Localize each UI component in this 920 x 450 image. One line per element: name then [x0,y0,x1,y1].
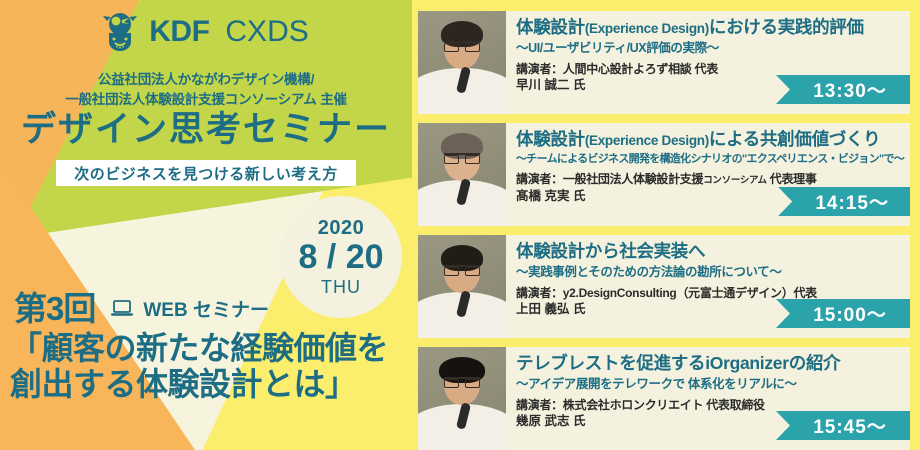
session-time-badge: 15:45〜 [776,411,910,440]
session-title-en: (Experience Design) [585,21,709,36]
main-title-line-1: 「顧客の新たな経験価値を [10,330,412,366]
session-time-badge: 14:15〜 [778,187,910,216]
session-time-badge: 13:30〜 [776,75,910,104]
seminar-poster: KDF CXDS 公益社団法人かながわデザイン機構/ 一般社団法人体験設計支援コ… [0,0,920,450]
session-title-pre: 体験設計から社会実装へ [516,241,705,261]
session-card-body: 体験設計(Experience Design)における実践的評価 〜UI/ユーザ… [506,11,910,114]
session-card-body: 体験設計から社会実装へ 〜実践事例とそのための方法論の勘所について〜 講演者：y… [506,235,910,338]
speaker-role-pre: 講演者：一般社団法人体験設計支援 [516,172,703,186]
event-format-row: 第3回 WEB セミナー [14,292,269,325]
speaker-photo [418,123,506,226]
speaker-photo [418,235,506,338]
format-label: WEB セミナー [143,295,269,322]
organizer-line-2: 一般社団法人体験設計支援コンソーシアム 主催 [0,90,412,110]
session-title: テレブレストを促進するiOrganizerの紹介 [516,354,902,373]
session-card[interactable]: 体験設計(Experience Design)による共創価値づくり 〜チームによ… [418,123,910,226]
date-day: 8 / 20 [298,238,383,277]
session-subtitle: 〜アイデア展開をテレワークで 体系化をリアルに〜 [516,377,902,392]
date-year: 2020 [318,218,365,238]
session-subtitle: 〜チームによるビジネス開発を構造化シナリオの"エクスペリエンス・ビジョン"で〜 [516,153,904,166]
session-list: 体験設計(Experience Design)における実践的評価 〜UI/ユーザ… [418,0,920,450]
session-card[interactable]: 体験設計(Experience Design)における実践的評価 〜UI/ユーザ… [418,11,910,114]
session-card-body: 体験設計(Experience Design)による共創価値づくり 〜チームによ… [506,123,910,226]
session-title-pre: 体験設計 [516,129,585,149]
speaker-photo [418,11,506,114]
laptop-icon [111,300,133,317]
session-title: 体験設計(Experience Design)における実践的評価 [516,18,902,37]
seminar-title: デザイン思考セミナー [0,112,412,147]
organizer-block: 公益社団法人かながわデザイン機構/ 一般社団法人体験設計支援コンソーシアム 主催 [0,70,412,109]
kdf-mascot-icon [103,12,137,52]
session-card[interactable]: テレブレストを促進するiOrganizerの紹介 〜アイデア展開をテレワークで … [418,347,910,450]
kdf-wordmark: KDF [149,17,209,47]
session-speaker-role: 講演者：一般社団法人体験設計支援コンソーシアム 代表理事 [516,171,904,188]
speaker-photo [418,347,506,450]
session-title-pre: 体験設計 [516,17,585,37]
page-title: 「顧客の新たな経験価値を 創出する体験設計とは」 [10,330,412,403]
session-title: 体験設計から社会実装へ [516,242,902,261]
date-badge: 2020 8 / 20 THU [280,196,402,318]
session-subtitle: 〜実践事例とそのための方法論の勘所について〜 [516,265,902,280]
session-title: 体験設計(Experience Design)による共創価値づくり [516,130,904,149]
session-subtitle: 〜UI/ユーザビリティ/UX評価の実際〜 [516,41,902,56]
date-weekday: THU [321,278,361,296]
session-title-post: における実践的評価 [709,17,864,37]
session-title-en: (Experience Design) [585,133,709,148]
organizer-line-1: 公益社団法人かながわデザイン機構/ [0,70,412,90]
brand-logo-row: KDF CXDS [0,12,412,52]
tagline-banner: 次のビジネスを見つける新しい考え方 [56,160,356,186]
session-title-pre: テレブレストを促進するiOrganizerの紹介 [516,353,840,373]
session-number: 第3回 [14,292,95,325]
session-title-post: による共創価値づくり [709,129,880,149]
session-card-body: テレブレストを促進するiOrganizerの紹介 〜アイデア展開をテレワークで … [506,347,910,450]
cxds-wordmark: CXDS [225,17,308,47]
speaker-role-consortium: コンソーシアム [703,175,767,186]
session-time-badge: 15:00〜 [776,299,910,328]
speaker-role-post: 代表理事 [767,172,817,186]
tagline-text: 次のビジネスを見つける新しい考え方 [74,163,338,184]
session-card[interactable]: 体験設計から社会実装へ 〜実践事例とそのための方法論の勘所について〜 講演者：y… [418,235,910,338]
main-title-line-2: 創出する体験設計とは」 [10,366,412,402]
hero-panel: KDF CXDS 公益社団法人かながわデザイン機構/ 一般社団法人体験設計支援コ… [0,0,412,450]
